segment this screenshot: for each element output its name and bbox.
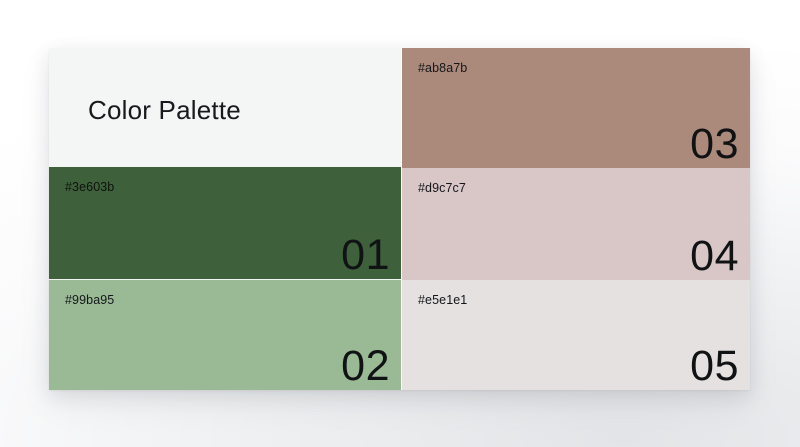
palette-column-left: Color Palette #3e603b 01 #99ba95 02 — [49, 48, 401, 390]
swatch-number-01: 01 — [341, 234, 390, 278]
palette-column-right: #ab8a7b 03 #d9c7c7 04 #e5e1e1 05 — [401, 48, 750, 390]
swatch-number-05: 05 — [690, 345, 739, 389]
swatch-tile-05[interactable]: #e5e1e1 05 — [402, 280, 750, 390]
swatch-hex-label-05: #e5e1e1 — [418, 293, 467, 307]
swatch-tile-01[interactable]: #3e603b 01 — [49, 167, 401, 279]
swatch-tile-03[interactable]: #ab8a7b 03 — [402, 48, 750, 168]
swatch-hex-label-04: #d9c7c7 — [418, 181, 466, 195]
swatch-number-02: 02 — [341, 345, 390, 389]
swatch-hex-label-02: #99ba95 — [65, 293, 114, 307]
swatch-tile-02[interactable]: #99ba95 02 — [49, 279, 401, 390]
swatch-hex-label-03: #ab8a7b — [418, 61, 467, 75]
swatch-hex-label-01: #3e603b — [65, 180, 114, 194]
page-title: Color Palette — [88, 95, 241, 126]
swatch-number-03: 03 — [690, 123, 739, 167]
swatch-tile-04[interactable]: #d9c7c7 04 — [402, 168, 750, 280]
palette-title-tile: Color Palette — [49, 48, 401, 167]
color-palette-card: Color Palette #3e603b 01 #99ba95 02 #ab8… — [49, 48, 750, 390]
swatch-number-04: 04 — [690, 235, 739, 279]
